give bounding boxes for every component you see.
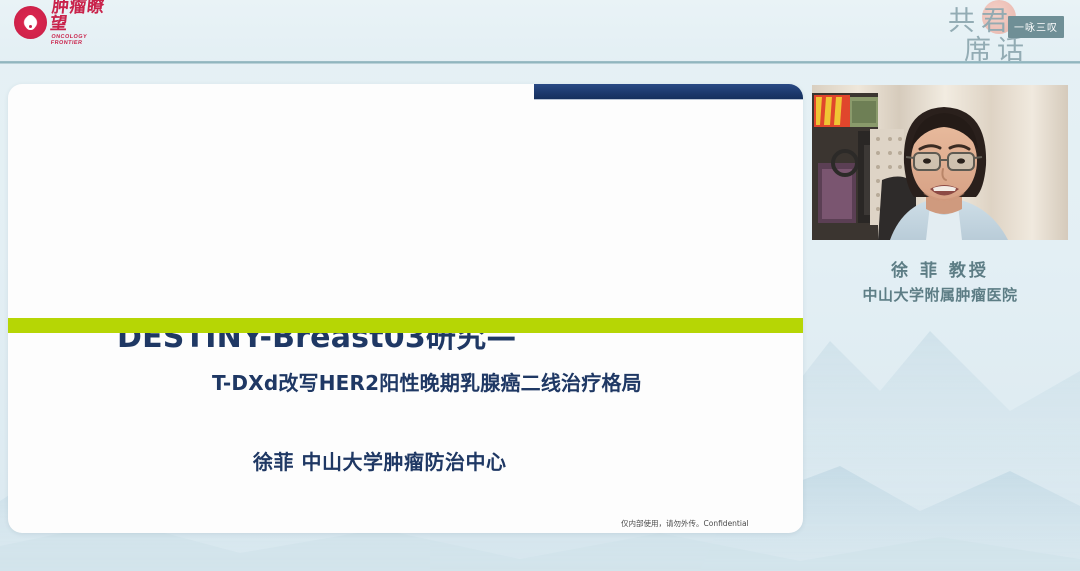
program-badge: 一咏三叹	[1008, 16, 1064, 38]
speaker-organization: 中山大学附属肿瘤医院	[812, 284, 1068, 305]
webcam-video-icon[interactable]	[812, 85, 1068, 240]
presentation-stage: 肿瘤瞭望 ONCOLOGY FRONTIER 共君 席话 一咏三叹 DESTIN…	[0, 0, 1080, 571]
slide-subtitle: T-DXd改写HER2阳性晚期乳腺癌二线治疗格局	[212, 367, 642, 396]
brand-name-cn: 肿瘤瞭望	[49, 0, 121, 33]
header-divider	[0, 61, 1080, 64]
slide-top-navy-bar	[534, 84, 803, 100]
speaker-name: 徐 菲 教授	[812, 256, 1068, 281]
slide-presenter-line: 徐菲 中山大学肿瘤防治中心	[253, 446, 506, 475]
program-watermark: 共君 席话 一咏三叹	[922, 0, 1072, 64]
slide-card[interactable]: DESTINY-Breast03研究— T-DXd改写HER2阳性晚期乳腺癌二线…	[8, 84, 803, 533]
brand-name-en: ONCOLOGY FRONTIER	[50, 35, 119, 46]
header-band	[0, 0, 1080, 64]
brand-logo: 肿瘤瞭望 ONCOLOGY FRONTIER	[14, 4, 119, 40]
brand-logo-text: 肿瘤瞭望 ONCOLOGY FRONTIER	[51, 0, 119, 46]
crab-logo-icon	[14, 6, 47, 39]
slide-green-divider	[8, 318, 803, 333]
slide-confidential-footer: 仅内部使用，请勿外传。Confidential	[621, 518, 749, 529]
